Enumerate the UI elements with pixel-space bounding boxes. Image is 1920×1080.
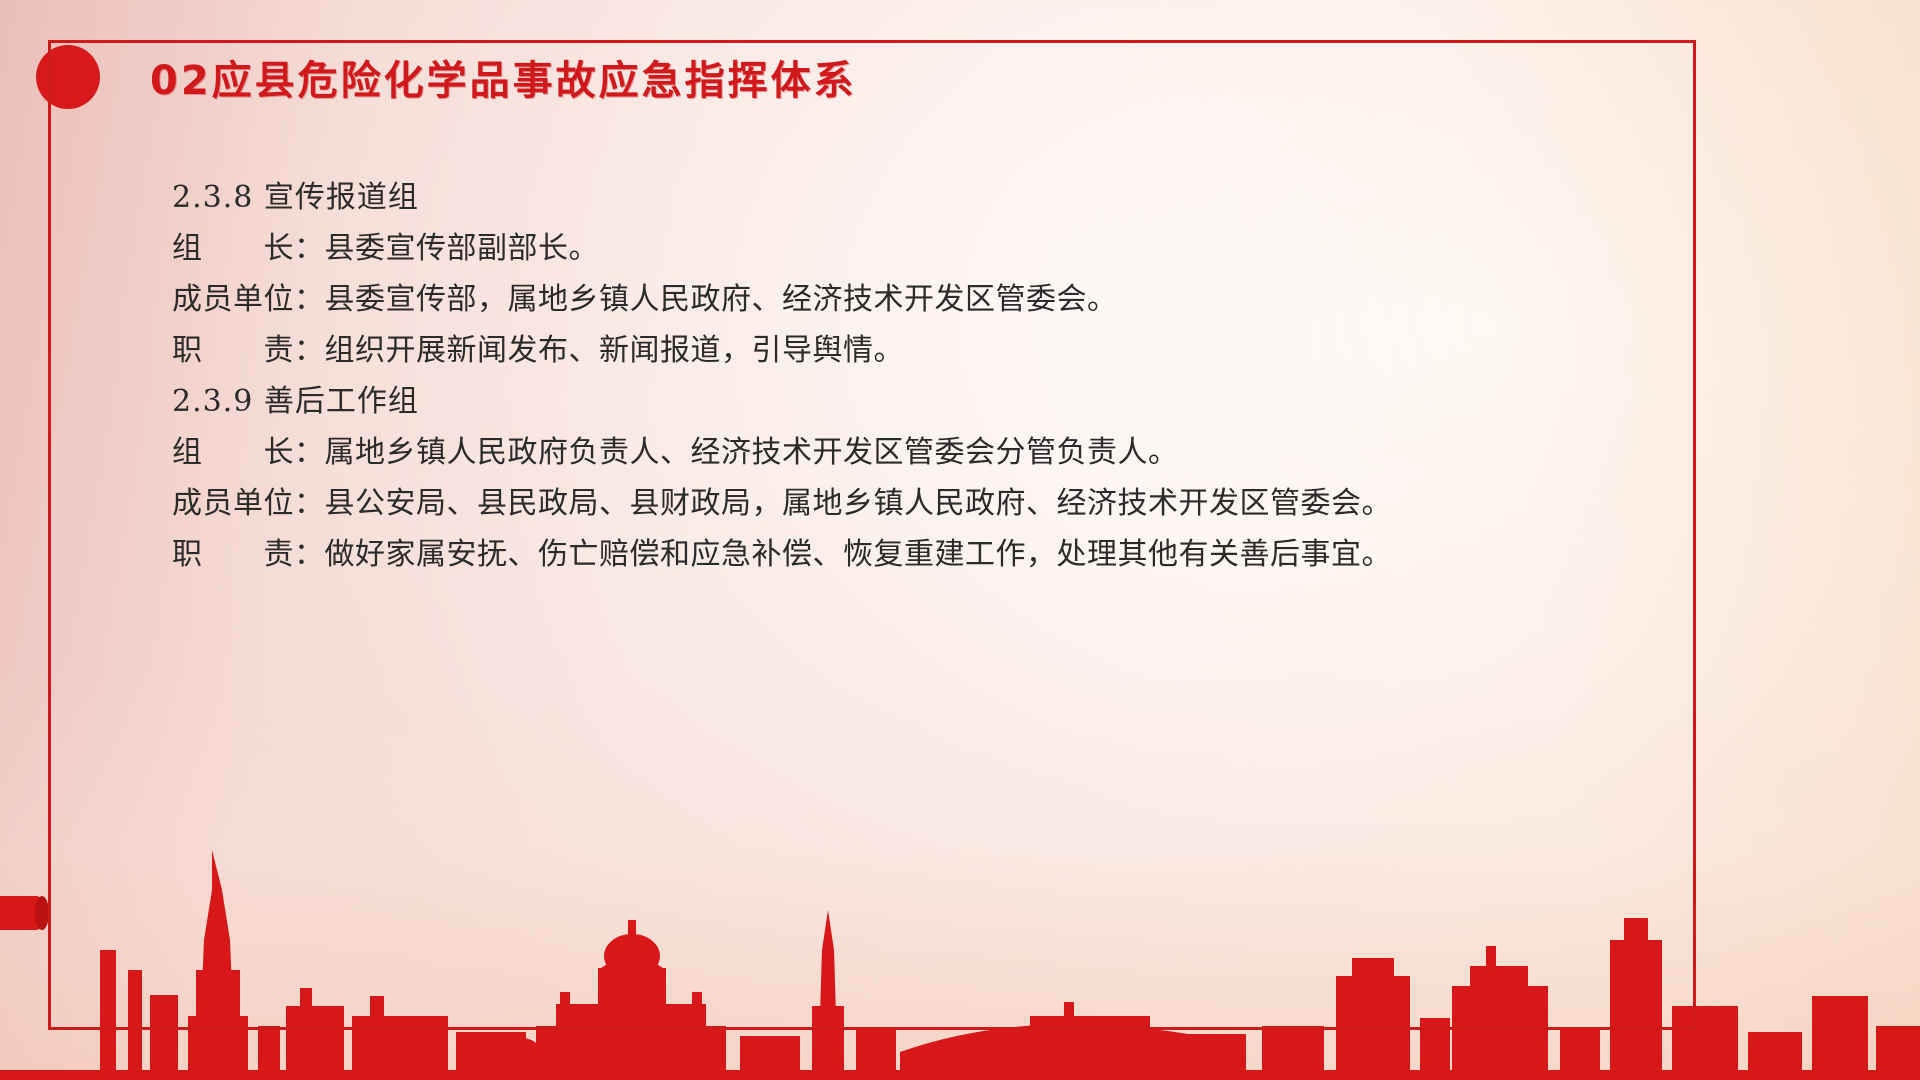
body-line: 职 责：做好家属安抚、伤亡赔偿和应急补偿、恢复重建工作，处理其他有关善后事宜。 bbox=[172, 529, 1592, 580]
body-line: 职 责：组织开展新闻发布、新闻报道，引导舆情。 bbox=[172, 325, 1592, 376]
body-line: 成员单位：县公安局、县民政局、县财政局，属地乡镇人民政府、经济技术开发区管委会。 bbox=[172, 478, 1592, 529]
body-line: 2.3.8 宣传报道组 bbox=[172, 172, 1592, 223]
body-line: 2.3.9 善后工作组 bbox=[172, 376, 1592, 427]
body-line: 成员单位：县委宣传部，属地乡镇人民政府、经济技术开发区管委会。 bbox=[172, 274, 1592, 325]
slide-body: 2.3.8 宣传报道组 组 长：县委宣传部副部长。 成员单位：县委宣传部，属地乡… bbox=[172, 172, 1592, 580]
body-line: 组 长：县委宣传部副部长。 bbox=[172, 223, 1592, 274]
red-pipe-accent bbox=[0, 896, 42, 930]
body-line: 组 长：属地乡镇人民政府负责人、经济技术开发区管委会分管负责人。 bbox=[172, 427, 1592, 478]
